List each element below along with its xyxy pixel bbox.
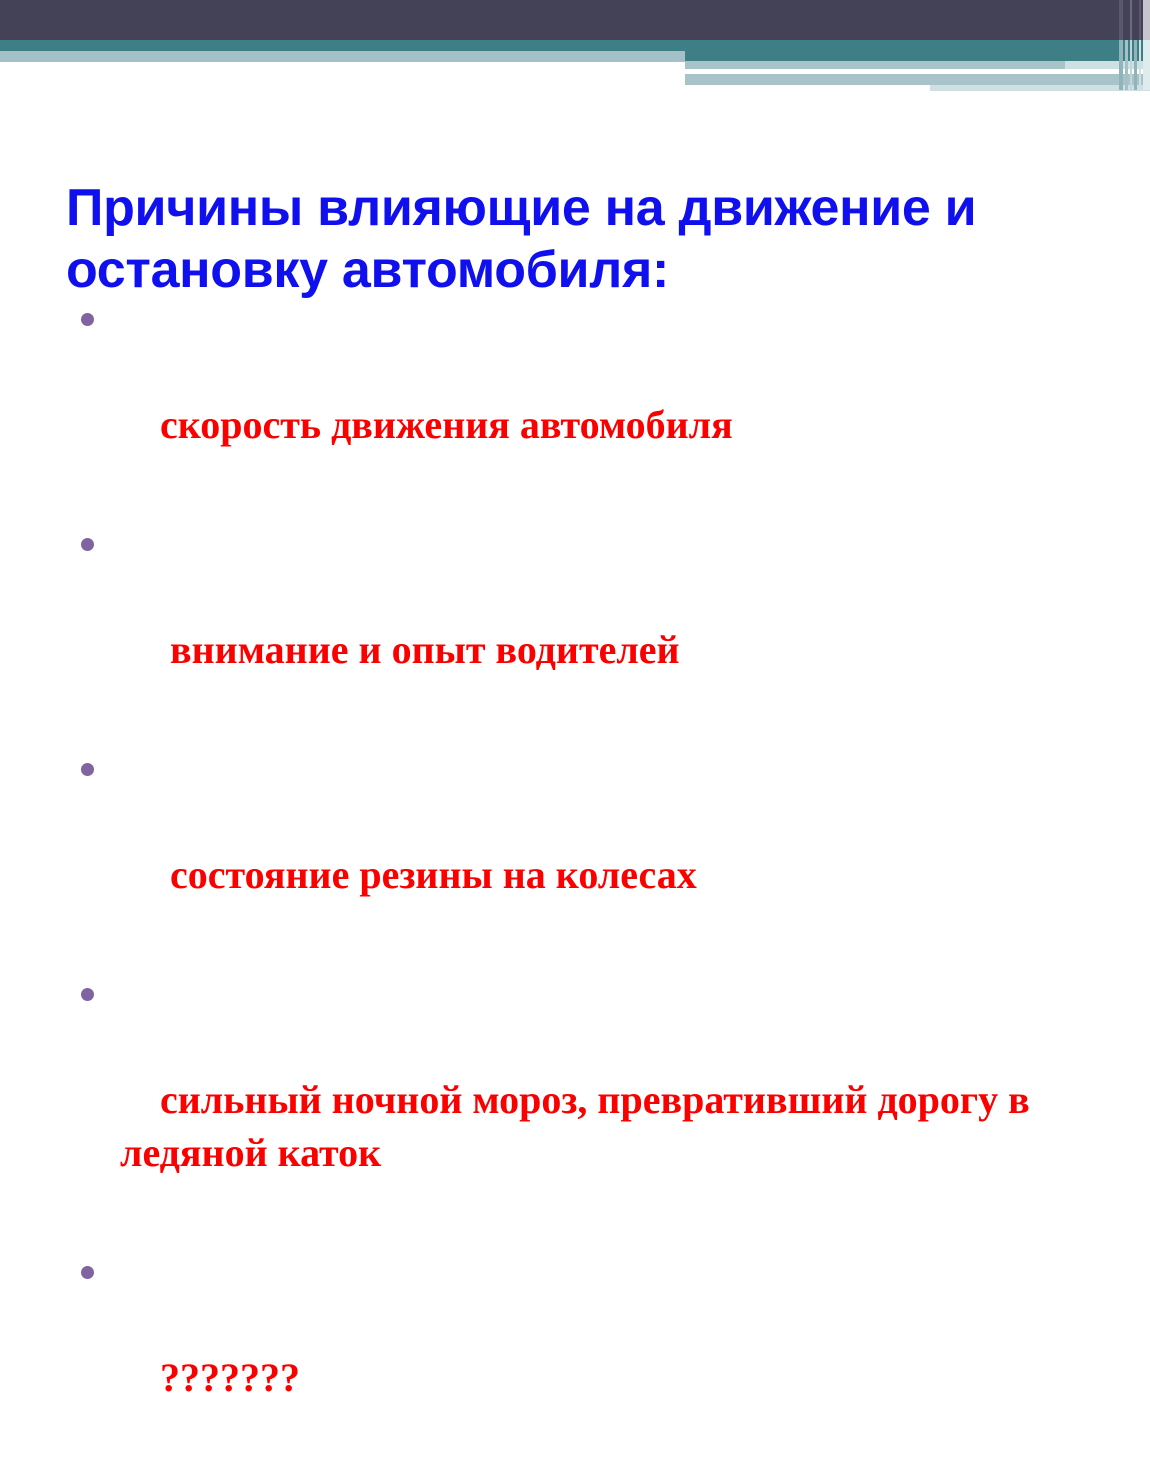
list-item-label: ??????? bbox=[160, 1355, 300, 1400]
bullet-dot-icon bbox=[81, 538, 94, 551]
list-item-label: сильный ночной мороз, превративший дорог… bbox=[120, 1077, 1040, 1175]
header-vertical-stripe bbox=[1139, 0, 1141, 90]
bullet-dot-icon bbox=[81, 988, 94, 1001]
header-decorative-banner bbox=[0, 0, 1150, 90]
header-dark-band bbox=[0, 0, 1150, 40]
header-vertical-stripe bbox=[1134, 0, 1137, 90]
list-item-label: внимание и опыт водителей bbox=[160, 627, 680, 672]
header-wash-band-right-2 bbox=[930, 85, 1150, 91]
list-item-label: скорость движения автомобиля bbox=[160, 402, 733, 447]
header-vertical-stripe bbox=[1125, 0, 1128, 90]
list-item: состояние резины на колесах bbox=[72, 742, 1112, 954]
header-teal-band-right bbox=[685, 51, 1150, 61]
bullet-dot-icon bbox=[81, 1266, 94, 1279]
header-vertical-stripe bbox=[1130, 0, 1132, 90]
header-teal-band bbox=[0, 40, 1150, 51]
list-item: скорость движения автомобиля bbox=[72, 292, 1112, 504]
header-wash-band-right bbox=[1065, 61, 1150, 69]
header-vertical-stripe bbox=[1143, 0, 1150, 90]
slide-title: Причины влияющие на движение и остановку… bbox=[66, 177, 1086, 301]
header-white-separator-2 bbox=[685, 85, 930, 91]
header-pale-band-right-2 bbox=[685, 74, 1150, 85]
list-item: ??????? bbox=[72, 1245, 1112, 1457]
list-item: сильный ночной мороз, превративший дорог… bbox=[72, 967, 1112, 1232]
header-light-band-left bbox=[0, 51, 685, 62]
bullet-dot-icon bbox=[81, 313, 94, 326]
bullet-dot-icon bbox=[81, 763, 94, 776]
header-vertical-stripe bbox=[1119, 0, 1123, 90]
list-item-label: состояние резины на колесах bbox=[160, 852, 697, 897]
bullet-list: скорость движения автомобиля внимание и … bbox=[72, 292, 1112, 1470]
list-item: внимание и опыт водителей bbox=[72, 517, 1112, 729]
